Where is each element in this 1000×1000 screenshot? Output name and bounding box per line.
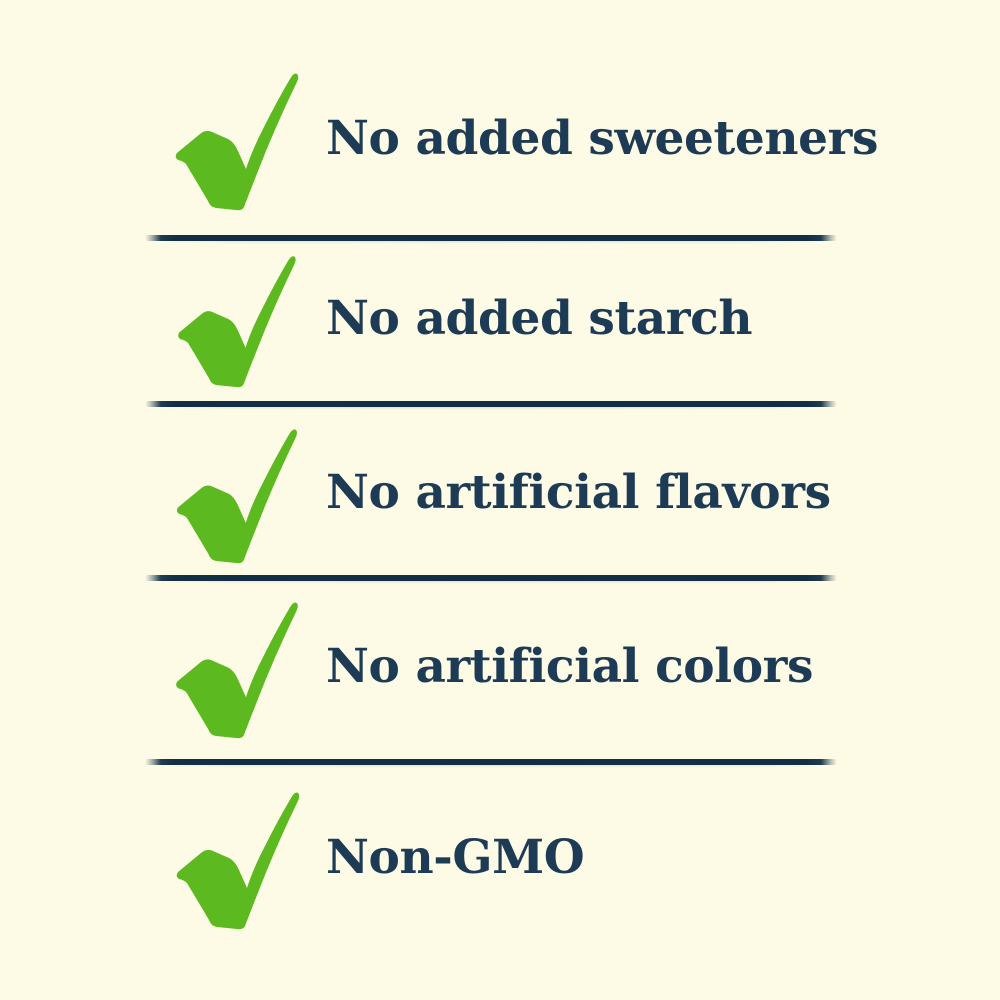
list-item: No artificial colors (0, 592, 1000, 740)
green-brush-checkmark-icon (170, 421, 300, 564)
list-item-label: No artificial flavors (326, 469, 831, 516)
green-brush-checkmark-icon (170, 594, 300, 739)
list-item: Non-GMO (0, 782, 1000, 932)
list-item-label: No added sweeteners (326, 115, 878, 162)
green-brush-checkmark-icon (170, 248, 300, 388)
list-item: No added sweeteners (0, 62, 1000, 214)
row-divider (145, 759, 837, 765)
row-divider (145, 235, 837, 241)
green-brush-checkmark-icon (170, 784, 302, 930)
row-divider (145, 401, 837, 407)
benefits-checklist-graphic: No added sweeteners No added starch No a… (0, 0, 1000, 1000)
list-item: No artificial flavors (0, 420, 1000, 565)
list-item-label: No added starch (326, 295, 752, 342)
list-item-label: Non-GMO (326, 834, 584, 881)
list-item: No added starch (0, 248, 1000, 388)
list-item-label: No artificial colors (326, 643, 813, 690)
row-divider (145, 575, 837, 581)
green-brush-checkmark-icon (170, 65, 300, 211)
